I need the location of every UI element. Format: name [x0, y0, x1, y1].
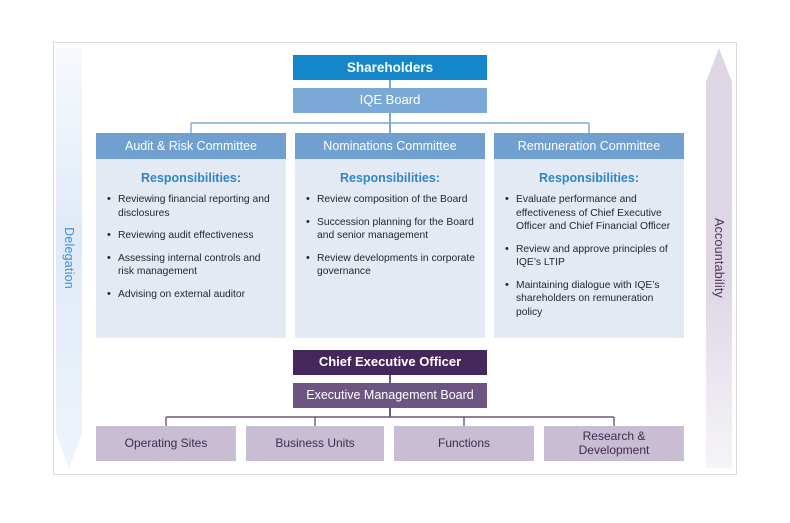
responsibilities-heading: Responsibilities: — [295, 171, 485, 185]
unit-business-units[interactable]: Business Units — [246, 426, 384, 461]
unit-label-wrap: Research & Development — [579, 430, 650, 458]
unit-label-line: Functions — [438, 437, 490, 451]
unit-label-wrap: Functions — [438, 437, 490, 451]
delegation-arrow: Delegation — [56, 48, 82, 468]
accountability-label: Accountability — [712, 218, 726, 298]
committee-header-nominations: Nominations Committee — [295, 133, 485, 159]
responsibilities-heading: Responsibilities: — [96, 171, 286, 185]
shareholders-node[interactable]: Shareholders — [293, 55, 487, 80]
committee-panel-nominations[interactable]: Nominations Committee Responsibilities: … — [295, 133, 485, 338]
unit-research-development[interactable]: Research & Development — [544, 426, 684, 461]
committee-header-audit-risk: Audit & Risk Committee — [96, 133, 286, 159]
list-item: Assessing internal controls and risk man… — [118, 252, 276, 279]
list-item: Reviewing financial reporting and disclo… — [118, 193, 276, 220]
committee-title: Remuneration Committee — [518, 139, 660, 153]
executive-management-board-node[interactable]: Executive Management Board — [293, 383, 487, 408]
diagram-canvas: Delegation Accountability Shareholders I… — [0, 0, 790, 523]
list-item: Advising on external auditor — [118, 288, 276, 302]
chief-executive-officer-node[interactable]: Chief Executive Officer — [293, 350, 487, 375]
committee-title: Audit & Risk Committee — [125, 139, 257, 153]
ceo-label: Chief Executive Officer — [319, 355, 461, 370]
list-item: Succession planning for the Board and se… — [317, 216, 475, 243]
committee-panel-remuneration[interactable]: Remuneration Committee Responsibilities:… — [494, 133, 684, 338]
accountability-arrow: Accountability — [706, 48, 732, 468]
list-item: Review and approve principles of IQE’s L… — [516, 243, 674, 270]
unit-operating-sites[interactable]: Operating Sites — [96, 426, 236, 461]
list-item: Reviewing audit effectiveness — [118, 229, 276, 243]
unit-label-wrap: Business Units — [275, 437, 354, 451]
unit-label-line: Development — [579, 444, 650, 458]
unit-functions[interactable]: Functions — [394, 426, 534, 461]
committee-header-remuneration: Remuneration Committee — [494, 133, 684, 159]
shareholders-label: Shareholders — [347, 60, 433, 76]
unit-label-wrap: Operating Sites — [125, 437, 208, 451]
unit-label-line: Operating Sites — [125, 437, 208, 451]
committee-panel-audit-risk[interactable]: Audit & Risk Committee Responsibilities:… — [96, 133, 286, 338]
delegation-label: Delegation — [62, 227, 76, 289]
responsibilities-list: Evaluate performance and effectiveness o… — [494, 193, 684, 320]
list-item: Evaluate performance and effectiveness o… — [516, 193, 674, 234]
iqe-board-label: IQE Board — [360, 93, 421, 108]
list-item: Maintaining dialogue with IQE’s sharehol… — [516, 279, 674, 320]
committee-title: Nominations Committee — [323, 139, 456, 153]
responsibilities-list: Reviewing financial reporting and disclo… — [96, 193, 286, 301]
emb-label: Executive Management Board — [306, 388, 473, 402]
iqe-board-node[interactable]: IQE Board — [293, 88, 487, 113]
responsibilities-list: Review composition of the Board Successi… — [295, 193, 485, 279]
unit-label-line: Research & — [579, 430, 650, 444]
list-item: Review composition of the Board — [317, 193, 475, 207]
unit-label-line: Business Units — [275, 437, 354, 451]
responsibilities-heading: Responsibilities: — [494, 171, 684, 185]
list-item: Review developments in corporate governa… — [317, 252, 475, 279]
